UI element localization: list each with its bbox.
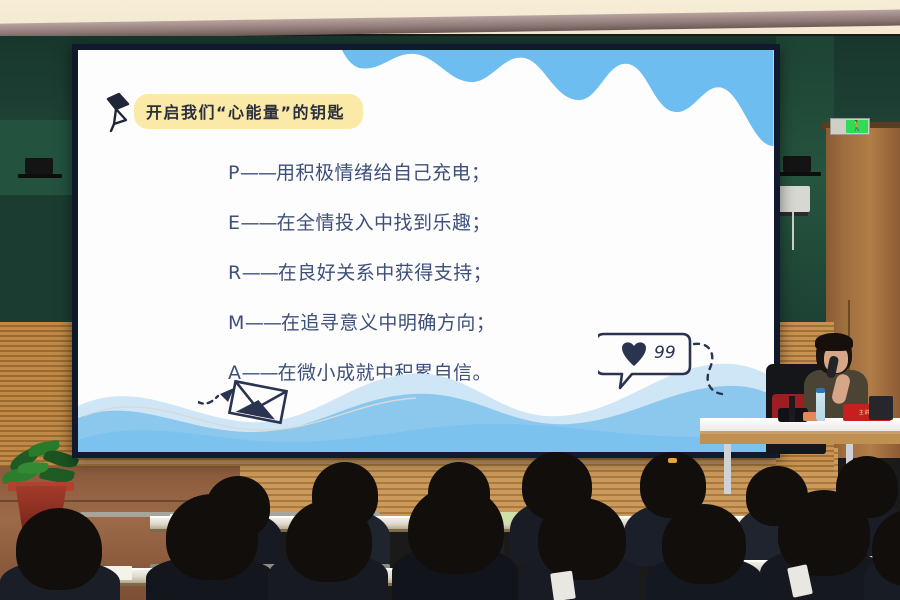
- envelope-icon: [198, 372, 298, 426]
- wall-speaker-left: [25, 158, 53, 174]
- line-text: 在全情投入中找到乐趣；: [277, 208, 492, 235]
- student-head: [408, 486, 504, 574]
- projection-screen-frame: 开启我们“心能量”的钥匙 P —— 用积极情绪给自己充电； E —— 在全情投入…: [72, 44, 780, 458]
- student-head: [286, 500, 372, 582]
- slide-line: E —— 在全情投入中找到乐趣；: [228, 208, 495, 235]
- running-man-icon: 🚶: [851, 122, 863, 132]
- line-key: R: [228, 262, 242, 284]
- student-head: [16, 508, 102, 590]
- slide-line: M —— 在追寻意义中明确方向；: [228, 308, 495, 335]
- speaker-shelf-right: [777, 172, 821, 176]
- speaker-shelf-left: [18, 174, 62, 178]
- line-dash: ——: [241, 212, 277, 234]
- emergency-exit-sign: 🚶: [830, 118, 870, 135]
- slide-canvas: 开启我们“心能量”的钥匙 P —— 用积极情绪给自己充电； E —— 在全情投入…: [78, 50, 774, 452]
- pin-icon: [102, 90, 138, 132]
- line-key: E: [228, 212, 241, 234]
- slide-line: R —— 在良好关系中获得支持；: [228, 258, 495, 285]
- presenter-hair: [815, 333, 853, 351]
- heart-count: 99: [654, 343, 676, 363]
- wall-green-patch-lower: [0, 196, 78, 324]
- line-dash: ——: [242, 262, 278, 284]
- line-text: 用积极情绪给自己充电；: [276, 158, 491, 185]
- line-dash: ——: [240, 162, 276, 184]
- classroom-scene: 🚶: [0, 0, 900, 600]
- line-text: 在追寻意义中明确方向；: [281, 308, 496, 335]
- water-bottle: [816, 391, 825, 421]
- line-key: M: [228, 312, 245, 334]
- table-leg: [724, 444, 731, 494]
- line-text: 在良好关系中获得支持；: [278, 258, 493, 285]
- student-head: [662, 504, 746, 584]
- wall-speaker-right: [783, 156, 811, 172]
- student-head: [778, 490, 870, 576]
- line-dash: ——: [245, 312, 281, 334]
- slide-line: P —— 用积极情绪给自己充电；: [228, 158, 495, 185]
- wall-equipment-box: [778, 186, 810, 212]
- bottle-cap: [816, 388, 825, 393]
- student-head: [538, 498, 626, 580]
- line-key: P: [228, 162, 240, 184]
- heart-bubble: 99: [598, 328, 728, 404]
- equipment-cable: [792, 212, 794, 250]
- slide-title: 开启我们“心能量”的钥匙: [146, 99, 345, 123]
- uniform-collar: [550, 571, 576, 600]
- title-highlight: 开启我们“心能量”的钥匙: [134, 94, 363, 129]
- slide-top-wave: [342, 50, 774, 146]
- slide-title-row: 开启我们“心能量”的钥匙: [102, 90, 363, 132]
- exit-sign-panel: 🚶: [846, 120, 868, 133]
- hair-clip: [668, 458, 677, 463]
- student-head: [166, 494, 258, 580]
- presenter-table-edge: [700, 434, 900, 444]
- laptop[interactable]: [869, 396, 893, 420]
- microphone-stand: [789, 396, 795, 422]
